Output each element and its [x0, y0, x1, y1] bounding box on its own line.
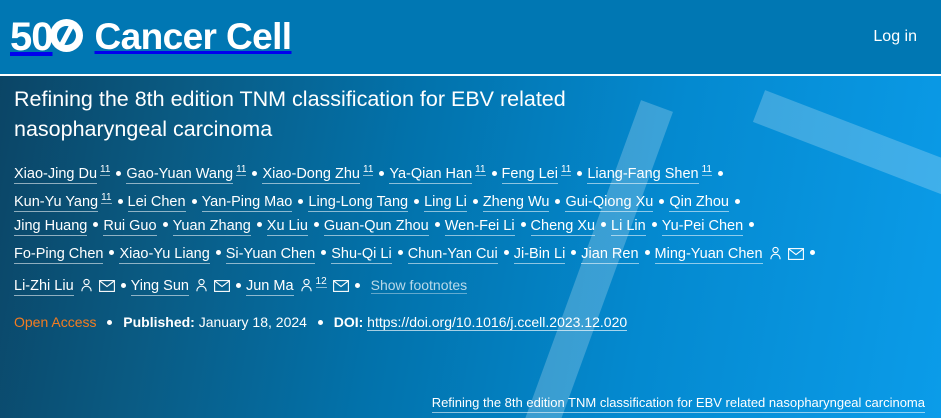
author-separator-dot: [577, 171, 582, 176]
author-row: Jing HuangRui GuoYuan ZhangXu LiuGuan-Qu…: [14, 212, 927, 240]
author-separator-dot: [116, 171, 121, 176]
author-profile-icon[interactable]: [300, 278, 313, 292]
author-separator-dot: [414, 199, 419, 204]
email-icon[interactable]: [333, 280, 349, 292]
author-separator-dot: [109, 250, 114, 255]
author-separator-dot: [118, 199, 123, 204]
meta-separator-dot: [107, 320, 112, 325]
author-separator-dot: [735, 199, 740, 204]
anniversary-digit-five: 50: [10, 17, 53, 57]
author-separator-dot: [749, 222, 754, 227]
author-name-link[interactable]: Si-Yuan Chen: [226, 246, 315, 264]
author-separator-dot: [321, 250, 326, 255]
published-date: January 18, 2024: [199, 314, 307, 330]
author-name-link[interactable]: Yu-Pei Chen: [662, 218, 743, 236]
author-name-link[interactable]: Shu-Qi Li: [331, 246, 391, 264]
author-separator-dot: [521, 222, 526, 227]
page-title: Refining the 8th edition TNM classificat…: [14, 84, 714, 144]
article-header-page: 50 Cancer Cell Log in Refining the 8th e…: [0, 0, 941, 418]
author-separator-dot: [652, 222, 657, 227]
journal-title: Cancer Cell: [95, 17, 292, 57]
author-separator-dot: [645, 250, 650, 255]
author-separator-dot: [252, 171, 257, 176]
author-name-link[interactable]: Yuan Zhang: [173, 218, 251, 236]
author-name-link[interactable]: Xu Liu: [267, 218, 308, 236]
author-name-link[interactable]: Jun Ma: [246, 278, 294, 296]
author-profile-icon[interactable]: [195, 278, 208, 292]
published-label: Published:: [123, 314, 195, 330]
author-name-link[interactable]: Lei Chen: [128, 194, 186, 212]
brand-bar-divider: [0, 74, 941, 76]
author-separator-dot: [659, 199, 664, 204]
login-link[interactable]: Log in: [873, 28, 917, 46]
author-separator-dot: [571, 250, 576, 255]
author-name-link[interactable]: Ling-Long Tang: [308, 194, 408, 212]
author-list: Xiao-Jing Du11Gao-Yuan Wang11Xiao-Dong Z…: [14, 156, 927, 296]
author-name-link[interactable]: Rui Guo: [103, 218, 156, 236]
author-affiliation-superscript[interactable]: 11: [236, 164, 246, 176]
author-name-link[interactable]: Jian Ren: [581, 246, 638, 264]
author-name-link[interactable]: Li-Zhi Liu: [14, 278, 74, 296]
author-separator-dot: [718, 171, 723, 176]
author-name-link[interactable]: Qin Zhou: [669, 194, 729, 212]
author-row: Li-Zhi LiuYing SunJun Ma12Show footnotes: [14, 268, 927, 296]
author-affiliation-superscript[interactable]: 11: [363, 164, 373, 176]
author-separator-dot: [601, 222, 606, 227]
author-affiliation-superscript[interactable]: 12: [316, 276, 327, 288]
author-name-link[interactable]: Gao-Yuan Wang: [126, 166, 233, 184]
author-name-link[interactable]: Ling Li: [424, 194, 467, 212]
author-name-link[interactable]: Xiao-Yu Liang: [119, 246, 209, 264]
author-name-link[interactable]: Jing Huang: [14, 218, 87, 236]
author-name-link[interactable]: Ji-Bin Li: [514, 246, 566, 264]
author-separator-dot: [314, 222, 319, 227]
journal-logo-link[interactable]: 50 Cancer Cell: [10, 14, 292, 60]
author-separator-dot: [93, 222, 98, 227]
article-hero: Refining the 8th edition TNM classificat…: [0, 76, 941, 418]
show-footnotes-link[interactable]: Show footnotes: [371, 277, 468, 294]
author-separator-dot: [435, 222, 440, 227]
anniversary-zero-mark-icon: [50, 19, 83, 52]
author-separator-dot: [236, 283, 241, 288]
journal-brand-bar: 50 Cancer Cell Log in: [0, 0, 941, 74]
author-name-link[interactable]: Zheng Wu: [483, 194, 550, 212]
author-name-link[interactable]: Feng Lei: [502, 166, 558, 184]
author-separator-dot: [298, 199, 303, 204]
anniversary-50-logo: 50: [10, 17, 83, 57]
author-separator-dot: [398, 250, 403, 255]
author-name-link[interactable]: Chun-Yan Cui: [408, 246, 498, 264]
open-access-badge[interactable]: Open Access: [14, 314, 97, 330]
article-meta-line: Open Access Published: January 18, 2024 …: [14, 314, 927, 330]
author-separator-dot: [473, 199, 478, 204]
author-name-link[interactable]: Ming-Yuan Chen: [655, 246, 763, 264]
author-separator-dot: [163, 222, 168, 227]
email-icon[interactable]: [99, 280, 115, 292]
meta-separator-dot: [318, 320, 323, 325]
author-separator-dot: [555, 199, 560, 204]
author-affiliation-superscript[interactable]: 11: [702, 164, 712, 176]
author-row: Kun-Yu Yang11Lei ChenYan-Ping MaoLing-Lo…: [14, 184, 927, 212]
author-separator-dot: [257, 222, 262, 227]
author-name-link[interactable]: Yan-Ping Mao: [202, 194, 293, 212]
author-affiliation-superscript[interactable]: 11: [101, 192, 111, 204]
footer-article-title-link[interactable]: Refining the 8th edition TNM classificat…: [432, 395, 925, 413]
author-profile-icon[interactable]: [769, 246, 782, 260]
author-name-link[interactable]: Xiao-Dong Zhu: [262, 166, 360, 184]
author-name-link[interactable]: Ying Sun: [131, 278, 189, 296]
doi-label: DOI:: [334, 314, 364, 330]
author-name-link[interactable]: Liang-Fang Shen: [587, 166, 698, 184]
author-name-link[interactable]: Ya-Qian Han: [389, 166, 472, 184]
author-separator-dot: [492, 171, 497, 176]
author-separator-dot: [192, 199, 197, 204]
author-separator-dot: [216, 250, 221, 255]
author-name-link[interactable]: Kun-Yu Yang: [14, 194, 98, 212]
author-name-link[interactable]: Wen-Fei Li: [445, 218, 515, 236]
author-name-link[interactable]: Gui-Qiong Xu: [565, 194, 653, 212]
author-name-link[interactable]: Guan-Qun Zhou: [324, 218, 429, 236]
doi-link[interactable]: https://doi.org/10.1016/j.ccell.2023.12.…: [367, 314, 627, 331]
author-affiliation-superscript[interactable]: 11: [475, 164, 485, 176]
author-separator-dot: [504, 250, 509, 255]
author-name-link[interactable]: Cheng Xu: [531, 218, 596, 236]
author-name-link[interactable]: Fo-Ping Chen: [14, 246, 103, 264]
author-separator-dot: [810, 250, 815, 255]
author-row: Fo-Ping ChenXiao-Yu LiangSi-Yuan ChenShu…: [14, 240, 927, 268]
author-separator-dot: [121, 283, 126, 288]
author-affiliation-superscript[interactable]: 11: [100, 164, 110, 176]
author-name-link[interactable]: Li Lin: [611, 218, 646, 236]
email-icon[interactable]: [788, 248, 804, 260]
footer-title-bar: Refining the 8th edition TNM classificat…: [0, 394, 941, 412]
email-icon[interactable]: [214, 280, 230, 292]
author-separator-dot: [379, 171, 384, 176]
author-row: Xiao-Jing Du11Gao-Yuan Wang11Xiao-Dong Z…: [14, 156, 927, 184]
author-profile-icon[interactable]: [80, 278, 93, 292]
author-affiliation-superscript[interactable]: 11: [561, 164, 571, 176]
author-name-link[interactable]: Xiao-Jing Du: [14, 166, 97, 184]
author-separator-dot: [355, 283, 360, 288]
